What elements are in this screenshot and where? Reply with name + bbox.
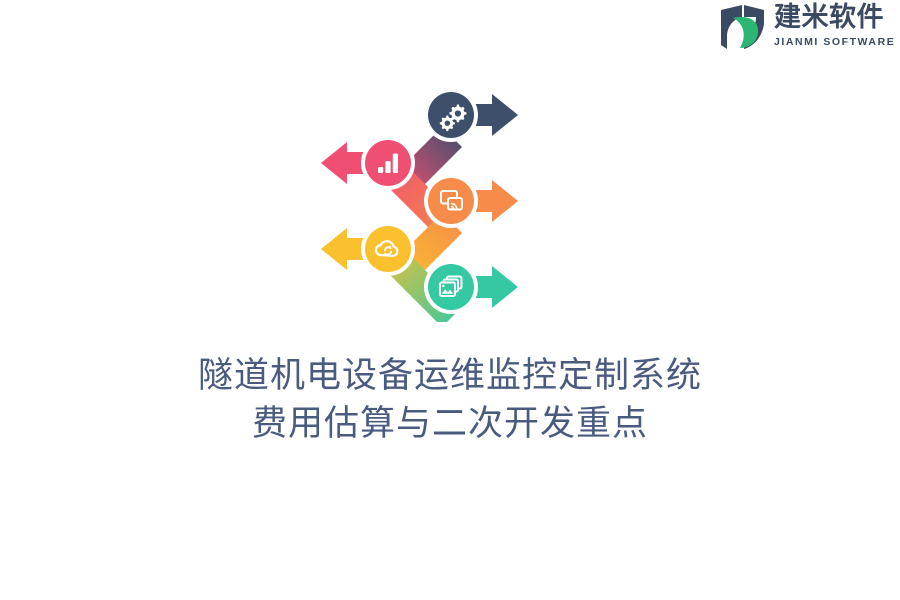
brand-logo: 建米软件 JIANMI SOFTWARE [718,0,900,52]
process-infographic [296,74,544,322]
jianmi-logo-mark-icon [718,4,766,50]
page-title-line1: 隧道机电设备运维监控定制系统 [0,352,900,400]
node-cast[interactable] [424,174,518,228]
node-disc-cloud [365,226,411,272]
brand-name-cn: 建米软件 [774,4,895,31]
node-cloud[interactable] [321,222,415,276]
brand-name-en: JIANMI SOFTWARE [774,37,895,48]
page-title-line2: 费用估算与二次开发重点 [0,400,900,448]
node-gears[interactable] [424,88,518,142]
node-analytics[interactable] [321,136,415,190]
node-disc-gears [428,92,474,138]
page-title: 隧道机电设备运维监控定制系统 费用估算与二次开发重点 [0,352,900,448]
brand-wordmark: 建米软件 JIANMI SOFTWARE [774,4,895,48]
node-gallery[interactable] [424,260,518,314]
